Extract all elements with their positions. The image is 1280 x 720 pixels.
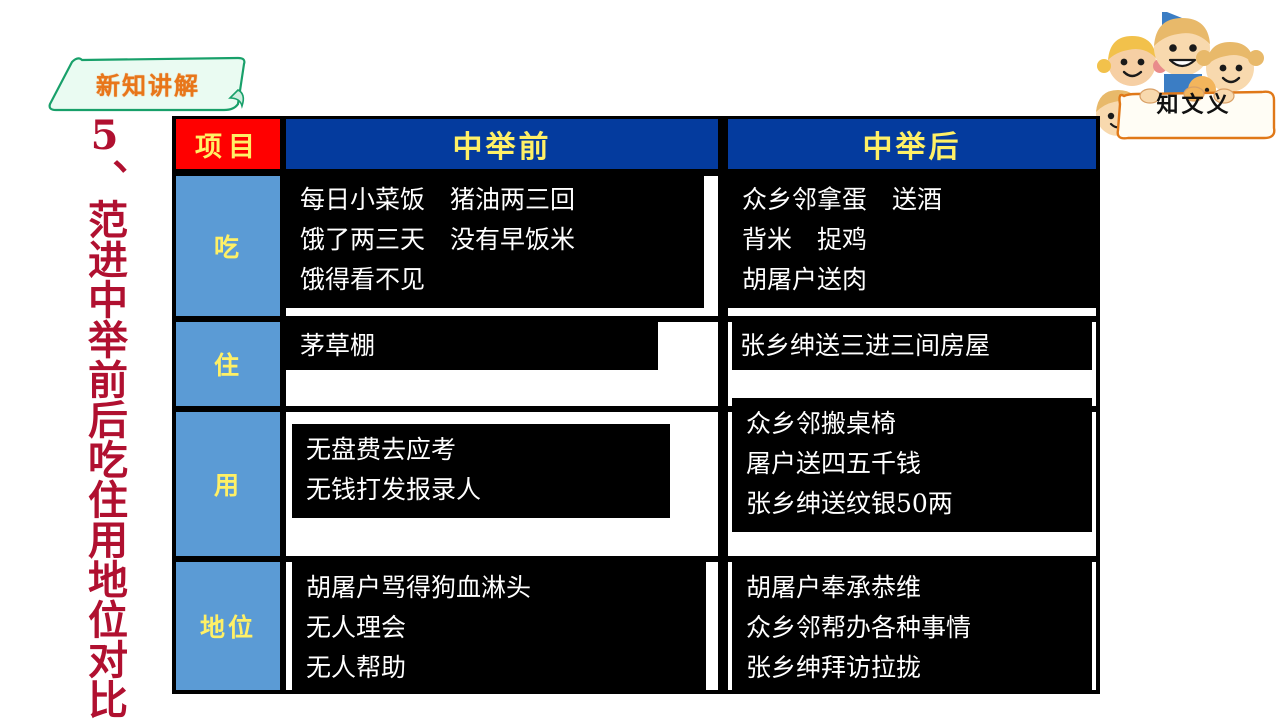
cell-before-4-text: 胡屠户骂得狗血淋头 无人理会 无人帮助 — [292, 562, 706, 690]
callout-label: 新知讲解 — [48, 54, 248, 112]
row-label-3: 用 — [176, 412, 280, 556]
cell-after-4-text: 胡屠户奉承恭维 众乡邻帮办各种事情 张乡绅拜访拉拢 — [732, 562, 1092, 690]
comparison-table: 项目 中举前 中举后 吃 每日小菜饭 猪油两三回 饿了两三天 没有早饭米 饿得看… — [172, 116, 1100, 694]
section-callout: 新知讲解 — [48, 54, 248, 112]
cell-before-1: 每日小菜饭 猪油两三回 饿了两三天 没有早饭米 饿得看不见 — [286, 176, 718, 316]
header-cell-before: 中举前 — [286, 119, 718, 169]
cell-before-1-text: 每日小菜饭 猪油两三回 饿了两三天 没有早饭米 饿得看不见 — [286, 174, 704, 308]
cell-after-4: 胡屠户奉承恭维 众乡邻帮办各种事情 张乡绅拜访拉拢 — [728, 562, 1096, 690]
cell-after-3: 众乡邻搬桌椅 屠户送四五千钱 张乡绅送纹银50两 — [728, 412, 1096, 556]
row-label-1: 吃 — [176, 176, 280, 316]
slide-canvas: 众 新知讲解 5、范进中举前后吃住用地位对比 — [0, 0, 1280, 720]
illustration-children: 知文义 — [1078, 0, 1280, 140]
cell-before-3-text: 无盘费去应考 无钱打发报录人 — [292, 424, 670, 518]
side-heading: 5、范进中举前后吃住用地位对比 — [72, 112, 128, 712]
cell-after-1-text: 众乡邻拿蛋 送酒 背米 捉鸡 胡屠户送肉 — [728, 174, 1096, 308]
header-cell-item: 项目 — [176, 119, 280, 169]
cell-before-2-text: 茅草棚 — [286, 322, 658, 370]
header-cell-after: 中举后 — [728, 119, 1096, 169]
table-header-row: 项目 中举前 中举后 — [172, 116, 1100, 172]
cell-after-2: 张乡绅送三进三间房屋 — [728, 322, 1096, 406]
cell-before-3: 无盘费去应考 无钱打发报录人 — [286, 412, 718, 556]
row-label-2: 住 — [176, 322, 280, 406]
cell-after-2-text: 张乡绅送三进三间房屋 — [732, 322, 1092, 370]
cell-before-4: 胡屠户骂得狗血淋头 无人理会 无人帮助 — [286, 562, 718, 690]
cell-before-2: 茅草棚 — [286, 322, 718, 406]
row-label-4: 地位 — [176, 562, 280, 690]
cell-after-1: 众乡邻拿蛋 送酒 背米 捉鸡 胡屠户送肉 — [728, 176, 1096, 316]
illustration-sign-text: 知文义 — [1116, 80, 1272, 126]
cell-after-3-text: 众乡邻搬桌椅 屠户送四五千钱 张乡绅送纹银50两 — [732, 398, 1092, 532]
